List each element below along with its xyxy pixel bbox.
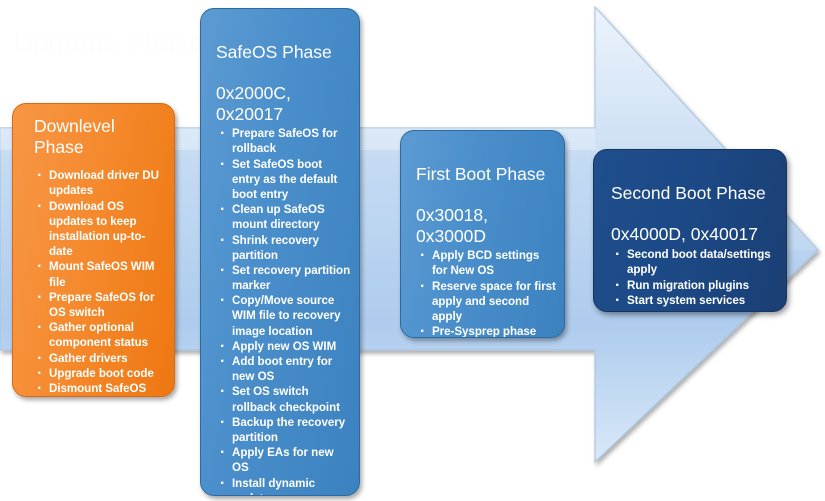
phase-item: Mount SafeOS WIM file — [35, 259, 164, 289]
phase-item: Reserve space for first apply and second… — [418, 279, 557, 325]
phase-title-secondboot: Second Boot Phase 0x4000D, 0x40017 — [611, 162, 778, 245]
phase-item: Add boot entry for new OS — [218, 354, 352, 384]
phase-item-list-safeos: Prepare SafeOS for rollbackSet SafeOS bo… — [218, 126, 352, 496]
phase-box-downlevel[interactable]: Downlevel Phase Download driver DU updat… — [12, 103, 175, 397]
phase-item: Apply BCD settings for New OS — [418, 248, 557, 278]
phase-box-safeos[interactable]: SafeOS Phase 0x2000C, 0x20017 Prepare Sa… — [200, 8, 360, 496]
diagram-canvas: Upgrade Phases — [0, 0, 825, 501]
phase-item: Set recovery partition marker — [218, 263, 352, 293]
phase-box-firstboot[interactable]: First Boot Phase 0x30018, 0x3000D Apply … — [400, 130, 565, 338]
phase-item-list-secondboot: Second boot data/settings applyRun migra… — [613, 247, 778, 312]
phase-item: Set OS switch rollback checkpoint — [218, 384, 352, 414]
phase-item: Pre-Sysprep phase — [418, 324, 557, 338]
phase-codes-safeos: 0x2000C, 0x20017 — [216, 83, 291, 124]
phase-title-firstboot: First Boot Phase 0x30018, 0x3000D — [416, 143, 557, 246]
phase-item: Copy/Move source WIM file to recovery im… — [218, 293, 352, 339]
phase-item: Gather optional component status — [35, 320, 164, 350]
phase-item: Prepare SafeOS for OS switch — [35, 290, 164, 320]
phase-box-secondboot[interactable]: Second Boot Phase 0x4000D, 0x40017 Secon… — [593, 149, 787, 312]
phase-item-list-downlevel: Download driver DU updatesDownload OS up… — [35, 168, 164, 397]
phase-title-text-safeos: SafeOS Phase — [216, 42, 332, 62]
phase-item: Run pre OOBE — [613, 309, 778, 312]
phase-title-safeos: SafeOS Phase 0x2000C, 0x20017 — [216, 21, 352, 124]
phase-item: Download OS updates to keep installation… — [35, 199, 164, 260]
phase-item: Gather drivers — [35, 351, 164, 366]
phase-item: Start system services — [613, 293, 778, 309]
phase-item: Shrink recovery partition — [218, 233, 352, 263]
phase-item: Clean up SafeOS mount directory — [218, 202, 352, 232]
phase-item: Upgrade boot code — [35, 366, 164, 381]
phase-item: Download driver DU updates — [35, 168, 164, 198]
phase-item: Install dynamic updates — [218, 476, 352, 496]
phase-item: Prepare SafeOS for rollback — [218, 126, 352, 156]
phase-item: Backup the recovery partition — [218, 415, 352, 445]
phase-title-text-secondboot: Second Boot Phase — [611, 183, 766, 203]
phase-item-list-firstboot: Apply BCD settings for New OSReserve spa… — [418, 248, 557, 338]
phase-item: Dismount SafeOS — [35, 381, 164, 396]
phase-title-text-firstboot: First Boot Phase — [416, 164, 545, 184]
phase-item: Second boot data/settings apply — [613, 247, 778, 278]
phase-item: Run migration plugins — [613, 278, 778, 294]
phase-item: Apply EAs for new OS — [218, 445, 352, 475]
phase-codes-firstboot: 0x30018, 0x3000D — [416, 205, 488, 246]
phase-item: Apply BCD settings for SafeOS — [35, 396, 164, 397]
phase-title-downlevel: Downlevel Phase — [34, 116, 164, 157]
phase-item: Apply new OS WIM — [218, 339, 352, 354]
phase-codes-secondboot: 0x4000D, 0x40017 — [611, 224, 758, 244]
phase-item: Set SafeOS boot entry as the default boo… — [218, 157, 352, 203]
